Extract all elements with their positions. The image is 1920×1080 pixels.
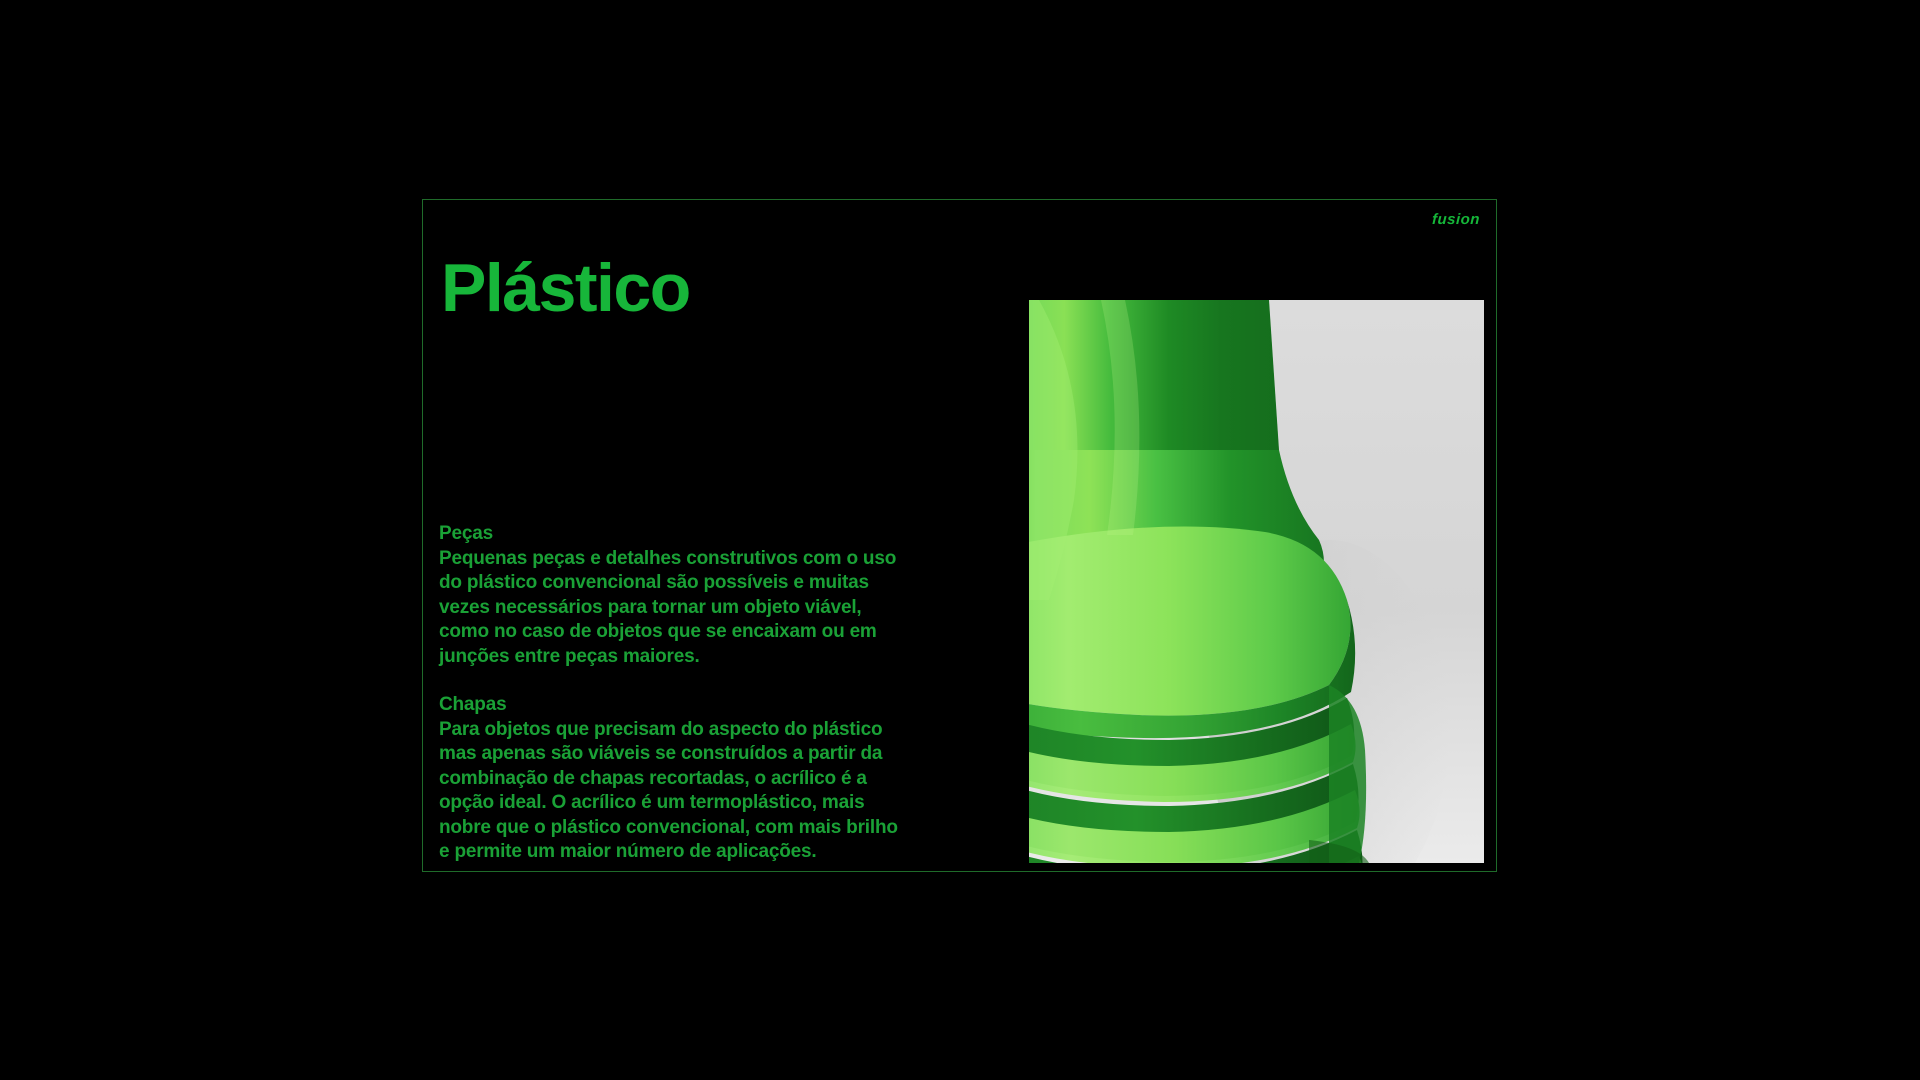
brand-logo: Fusion [1432, 211, 1481, 228]
copy-column: Peças Pequenas peças e detalhes construt… [439, 522, 944, 865]
copy-section-body: Para objetos que precisam do aspecto do … [439, 718, 944, 865]
copy-section-heading: Chapas [439, 693, 944, 718]
copy-section-body: Pequenas peças e detalhes construtivos c… [439, 547, 944, 670]
slide-frame: Plástico Fusion Peças Pequenas peças e d… [422, 199, 1497, 872]
plastic-object-illustration [1029, 300, 1484, 863]
copy-section-heading: Peças [439, 522, 944, 547]
page-title: Plástico [441, 254, 690, 322]
hero-image [1029, 300, 1484, 863]
copy-section-pecas: Peças Pequenas peças e detalhes construt… [439, 522, 944, 669]
slide-canvas: Plástico Fusion Peças Pequenas peças e d… [0, 0, 1920, 1080]
copy-section-chapas: Chapas Para objetos que precisam do aspe… [439, 693, 944, 865]
